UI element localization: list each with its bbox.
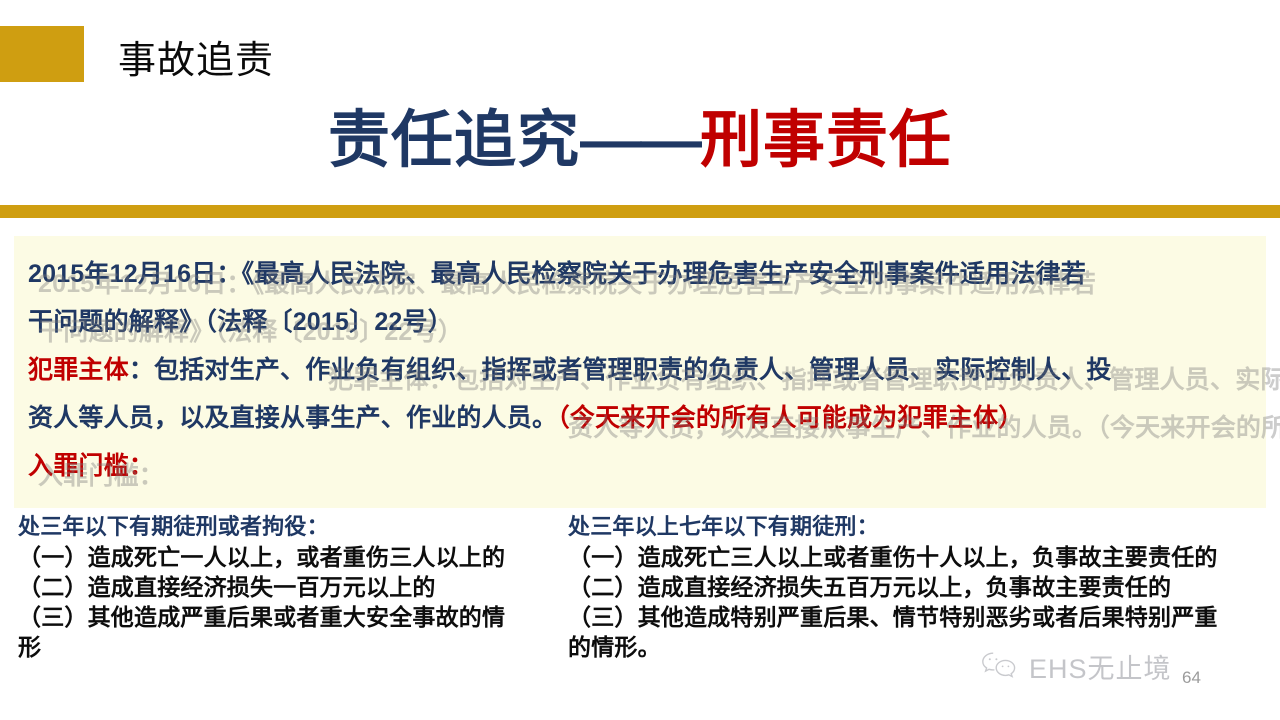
content-panel: 2015年12月16日：《最高人民法院、最高人民检察院关于办理危害生产安全刑事案… <box>14 236 1266 508</box>
penalty-column-three-to-seven-years: 处三年以上七年以下有期徒刑： （一）造成死亡三人以上或者重伤十人以上，负事故主要… <box>568 512 1280 662</box>
watermark-text: EHS无止境 <box>1029 653 1172 685</box>
line-date-doc: 2015年12月16日：《最高人民法院、最高人民检察院关于办理危害生产安全刑事案… <box>28 250 1252 298</box>
section-label: 事故追责 <box>118 36 274 86</box>
line-threshold: 入罪门槛：入罪门槛： <box>28 442 1252 490</box>
page-title: 责任追究——刑事责任 <box>0 104 1280 178</box>
list-item: （二）造成直接经济损失一百万元以上的 <box>18 572 566 602</box>
panel-text-segment: 资人等人员，以及直接从事生产、作业的人员。 <box>28 404 557 432</box>
panel-text-segment: （今天来开会的所有人可能成为犯罪主体） <box>557 404 1023 432</box>
column-heading: 处三年以上七年以下有期徒刑： <box>568 512 1280 542</box>
list-item: （三）其他造成特别严重后果、情节特别恶劣或者后果特别严重 <box>568 602 1280 632</box>
page-title-part-navy: 责任追究 <box>328 106 580 175</box>
page-number: 64 <box>1182 668 1201 688</box>
line-investors: 资人等人员，以及直接从事生产、作业的人员。（今天来开会的所有人可能成为犯罪主体）… <box>28 394 1252 442</box>
list-item: （二）造成直接经济损失五百万元以上，负事故主要责任的 <box>568 572 1280 602</box>
panel-text-segment: 犯罪主体 <box>28 356 129 384</box>
list-item: （一）造成死亡三人以上或者重伤十人以上，负事故主要责任的 <box>568 542 1280 572</box>
line-doc-number: 干问题的解释》（法释〔2015〕22号）干问题的解释》（法释〔2015〕22号） <box>28 298 1252 346</box>
line-criminal-subject: 犯罪主体：包括对生产、作业负有组织、指挥或者管理职责的负责人、管理人员、实际控制… <box>28 346 1252 394</box>
watermark: EHS无止境 <box>980 650 1172 687</box>
column-heading: 处三年以下有期徒刑或者拘役： <box>18 512 566 542</box>
list-item: （三）其他造成严重后果或者重大安全事故的情 <box>18 602 566 632</box>
page-title-dash: —— <box>580 106 700 175</box>
list-item: （一）造成死亡一人以上，或者重伤三人以上的 <box>18 542 566 572</box>
list-item: 形 <box>18 632 566 662</box>
wechat-icon <box>980 650 1020 687</box>
panel-text-segment: 2015年12月16日：《最高人民法院、最高人民检察院关于办理危害生产安全刑事案… <box>28 260 1086 288</box>
penalty-column-under-three-years: 处三年以下有期徒刑或者拘役： （一）造成死亡一人以上，或者重伤三人以上的 （二）… <box>18 512 566 662</box>
header-accent-swatch <box>0 26 84 82</box>
panel-text-segment: 干问题的解释》（法释〔2015〕22号） <box>28 308 453 336</box>
page-title-part-red: 刑事责任 <box>700 106 952 175</box>
panel-text-segment: ：包括对生产、作业负有组织、指挥或者管理职责的负责人、管理人员、实际控制人、投 <box>129 356 1112 384</box>
panel-text-segment: 入罪门槛： <box>28 452 154 480</box>
gold-divider <box>0 205 1280 218</box>
slide-canvas: 事故追责 责任追究——刑事责任 2015年12月16日：《最高人民法院、最高人民… <box>0 0 1280 720</box>
list-item: 的情形。 <box>568 632 1280 662</box>
